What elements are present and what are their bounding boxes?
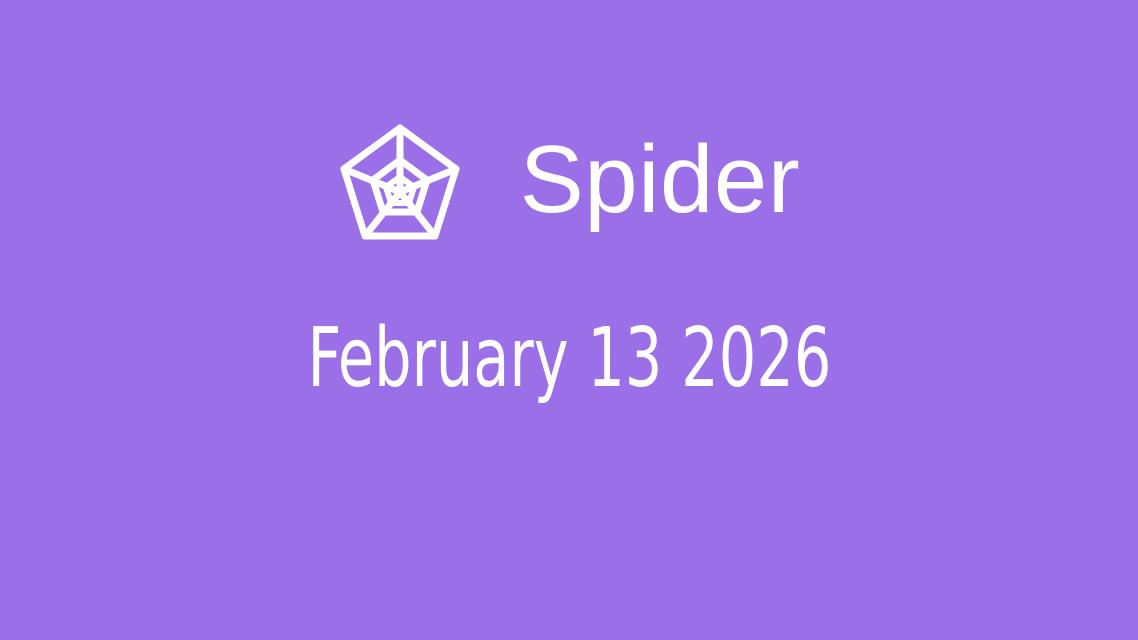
icon-title-spacer <box>462 182 520 183</box>
date-row: February 13 2026 <box>0 318 1138 400</box>
title-row: Spider <box>0 110 1138 255</box>
splash-date: February 13 2026 <box>307 318 831 400</box>
page-title: Spider <box>520 132 801 234</box>
spider-web-icon <box>338 120 462 246</box>
splash-screen: Spider February 13 2026 <box>0 0 1138 640</box>
